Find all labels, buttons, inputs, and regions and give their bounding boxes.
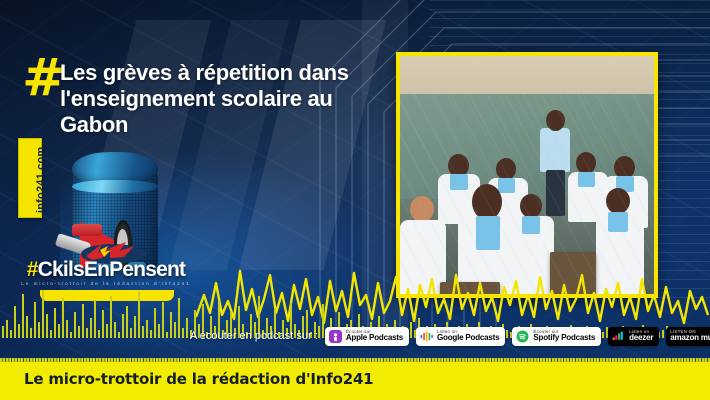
deezer-icon [612, 330, 625, 343]
apple-podcasts-text: Écouter sur Apple Podcasts [346, 330, 403, 343]
site-url-tab[interactable]: info241.com [18, 138, 42, 218]
google-podcasts-big: Google Podcasts [437, 334, 499, 342]
google-podcasts-badge[interactable]: Listen on Google Podcasts [416, 327, 505, 346]
spotify-icon [516, 330, 529, 343]
apple-podcasts-badge[interactable]: Écouter sur Apple Podcasts [325, 327, 409, 346]
spotify-badge[interactable]: Écouter sur Spotify Podcasts [512, 327, 601, 346]
amazon-music-big: amazon music [670, 334, 710, 342]
headline: Les grèves à répetition dans l'enseignem… [60, 60, 400, 138]
podcast-label: A écouter en podcast sur : [190, 330, 318, 342]
site-url-text: info241.com [35, 147, 47, 213]
spotify-big: Spotify Podcasts [533, 334, 595, 342]
amazon-music-text: LISTEN ON amazon music [670, 330, 710, 343]
amazon-music-badge[interactable]: LISTEN ON amazon music [666, 327, 710, 346]
podcast-platforms-row: A écouter en podcast sur : Écouter sur A… [190, 325, 710, 347]
bottom-caption-text: Le micro-trottoir de la rédaction d'Info… [24, 370, 373, 388]
google-podcasts-text: Listen on Google Podcasts [437, 330, 499, 343]
deezer-big: deezer [629, 334, 653, 342]
hashtag-symbol: # [22, 56, 64, 100]
megaphone-grip [72, 224, 102, 236]
headline-line-2: l'enseignement scolaire au Gabon [60, 86, 400, 138]
google-podcasts-icon [420, 330, 433, 343]
headline-line-1: Les grèves à répetition dans [60, 60, 400, 86]
podcast-promo-card: info241.com # Les grèves à répetition da… [0, 0, 710, 400]
spotify-text: Écouter sur Spotify Podcasts [533, 330, 595, 343]
apple-podcasts-big: Apple Podcasts [346, 334, 403, 342]
microphone-ring [72, 180, 158, 193]
deezer-text: Listen on deezer [629, 330, 653, 343]
deezer-badge[interactable]: Listen on deezer [608, 327, 659, 346]
apple-podcasts-icon [329, 330, 342, 343]
